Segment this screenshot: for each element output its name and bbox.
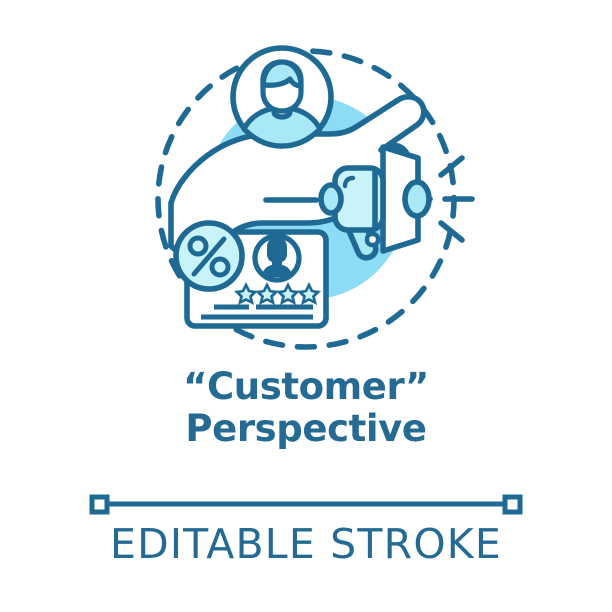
percent-badge bbox=[176, 223, 242, 289]
concept-icon-card: “Customer” Perspective EDITABLE STROKE bbox=[0, 0, 612, 612]
footer: EDITABLE STROKE bbox=[0, 520, 612, 568]
card-user-icon bbox=[255, 236, 299, 280]
editable-stroke-label: EDITABLE STROKE bbox=[0, 520, 612, 568]
customer-avatar bbox=[233, 48, 331, 146]
sound-rays bbox=[441, 158, 472, 240]
square-handle-right-icon bbox=[505, 497, 520, 512]
customer-perspective-illustration bbox=[0, 0, 612, 370]
concept-title-line-2: Perspective bbox=[0, 408, 612, 450]
concept-title-line-1: “Customer” bbox=[0, 366, 612, 408]
divider-graphic bbox=[0, 486, 612, 522]
square-handle-left-icon bbox=[92, 497, 107, 512]
illustration-area bbox=[0, 0, 612, 370]
concept-title: “Customer” Perspective bbox=[0, 366, 612, 450]
divider bbox=[0, 486, 612, 522]
